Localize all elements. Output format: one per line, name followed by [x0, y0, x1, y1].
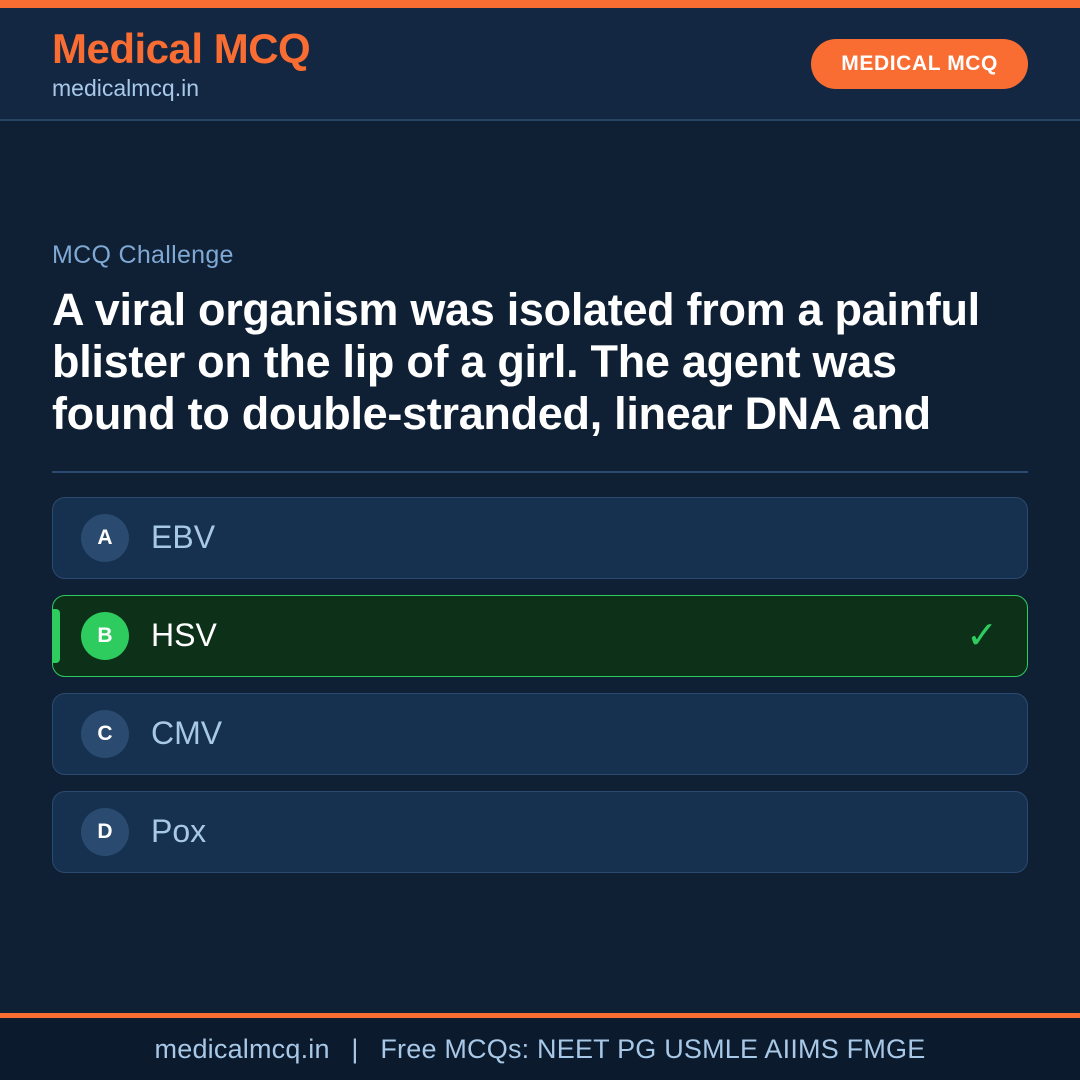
option-key-badge: A [81, 514, 129, 562]
footer: medicalmcq.in | Free MCQs: NEET PG USMLE… [0, 1013, 1080, 1080]
question-divider [52, 471, 1028, 473]
option-b[interactable]: B HSV ✓ [52, 595, 1028, 677]
main-content: MCQ Challenge A viral organism was isola… [0, 121, 1080, 1013]
option-key-badge: C [81, 710, 129, 758]
option-label: Pox [151, 813, 965, 850]
brand-subtitle: medicalmcq.in [52, 77, 310, 100]
top-accent-bar [0, 0, 1080, 8]
option-label: HSV [151, 617, 965, 654]
footer-site: medicalmcq.in [155, 1034, 330, 1064]
correct-accent-bar [53, 609, 60, 663]
question-text: A viral organism was isolated from a pai… [52, 284, 1028, 441]
footer-separator: | [337, 1034, 372, 1064]
footer-exams: Free MCQs: NEET PG USMLE AIIMS FMGE [380, 1034, 925, 1064]
header: Medical MCQ medicalmcq.in MEDICAL MCQ [0, 8, 1080, 121]
option-label: CMV [151, 715, 965, 752]
option-c[interactable]: C CMV ✓ [52, 693, 1028, 775]
mcq-card: Medical MCQ medicalmcq.in MEDICAL MCQ MC… [0, 0, 1080, 1080]
section-eyebrow: MCQ Challenge [52, 241, 1028, 270]
option-d[interactable]: D Pox ✓ [52, 791, 1028, 873]
options-list: A EBV ✓ B HSV ✓ C CMV ✓ D Pox ✓ [52, 497, 1028, 873]
option-label: EBV [151, 519, 965, 556]
footer-text: medicalmcq.in | Free MCQs: NEET PG USMLE… [155, 1034, 926, 1065]
option-key-badge: B [81, 612, 129, 660]
option-a[interactable]: A EBV ✓ [52, 497, 1028, 579]
option-key-badge: D [81, 808, 129, 856]
brand: Medical MCQ medicalmcq.in [52, 28, 310, 100]
header-badge: MEDICAL MCQ [811, 39, 1028, 89]
check-icon: ✓ [965, 617, 999, 655]
brand-title: Medical MCQ [52, 28, 310, 70]
